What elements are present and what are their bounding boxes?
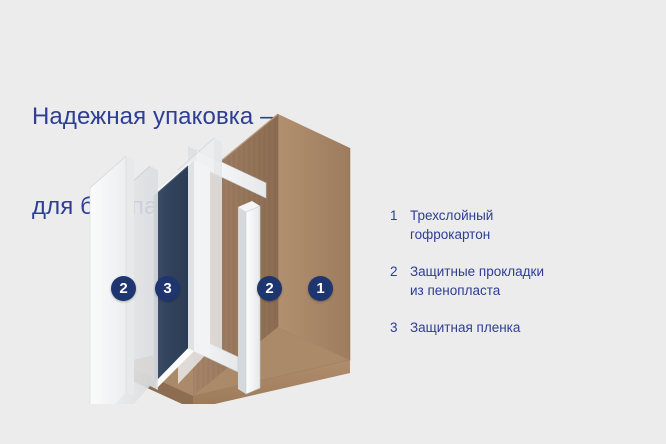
legend-item-1-label: Трехслойный гофрокартон bbox=[410, 206, 640, 244]
packaging-layers-svg bbox=[88, 108, 360, 404]
legend-item-2-label: Защитные прокладки из пенопласта bbox=[410, 262, 640, 300]
foam-spacer-vertical bbox=[238, 201, 260, 394]
page-root: Надежная упаковка — для безопасной доста… bbox=[0, 0, 666, 444]
packaging-illustration: 2 3 2 1 bbox=[88, 108, 360, 404]
legend-list: 1 Трехслойный гофрокартон 2 Защитные про… bbox=[390, 206, 640, 374]
legend-item-2-number: 2 bbox=[390, 262, 404, 281]
legend-item-1: 1 Трехслойный гофрокартон bbox=[390, 206, 640, 244]
illustration-badge-2-spacer[interactable]: 2 bbox=[257, 276, 282, 301]
illustration-badge-1-cardboard[interactable]: 1 bbox=[308, 276, 333, 301]
legend-item-3-label: Защитная пленка bbox=[410, 318, 640, 337]
legend-item-3-number: 3 bbox=[390, 318, 404, 337]
illustration-badge-3-film[interactable]: 3 bbox=[155, 276, 180, 301]
legend-item-1-number: 1 bbox=[390, 206, 404, 225]
legend-item-3: 3 Защитная пленка bbox=[390, 318, 640, 356]
legend-item-2: 2 Защитные прокладки из пенопласта bbox=[390, 262, 640, 300]
illustration-badge-2-outer[interactable]: 2 bbox=[111, 276, 136, 301]
